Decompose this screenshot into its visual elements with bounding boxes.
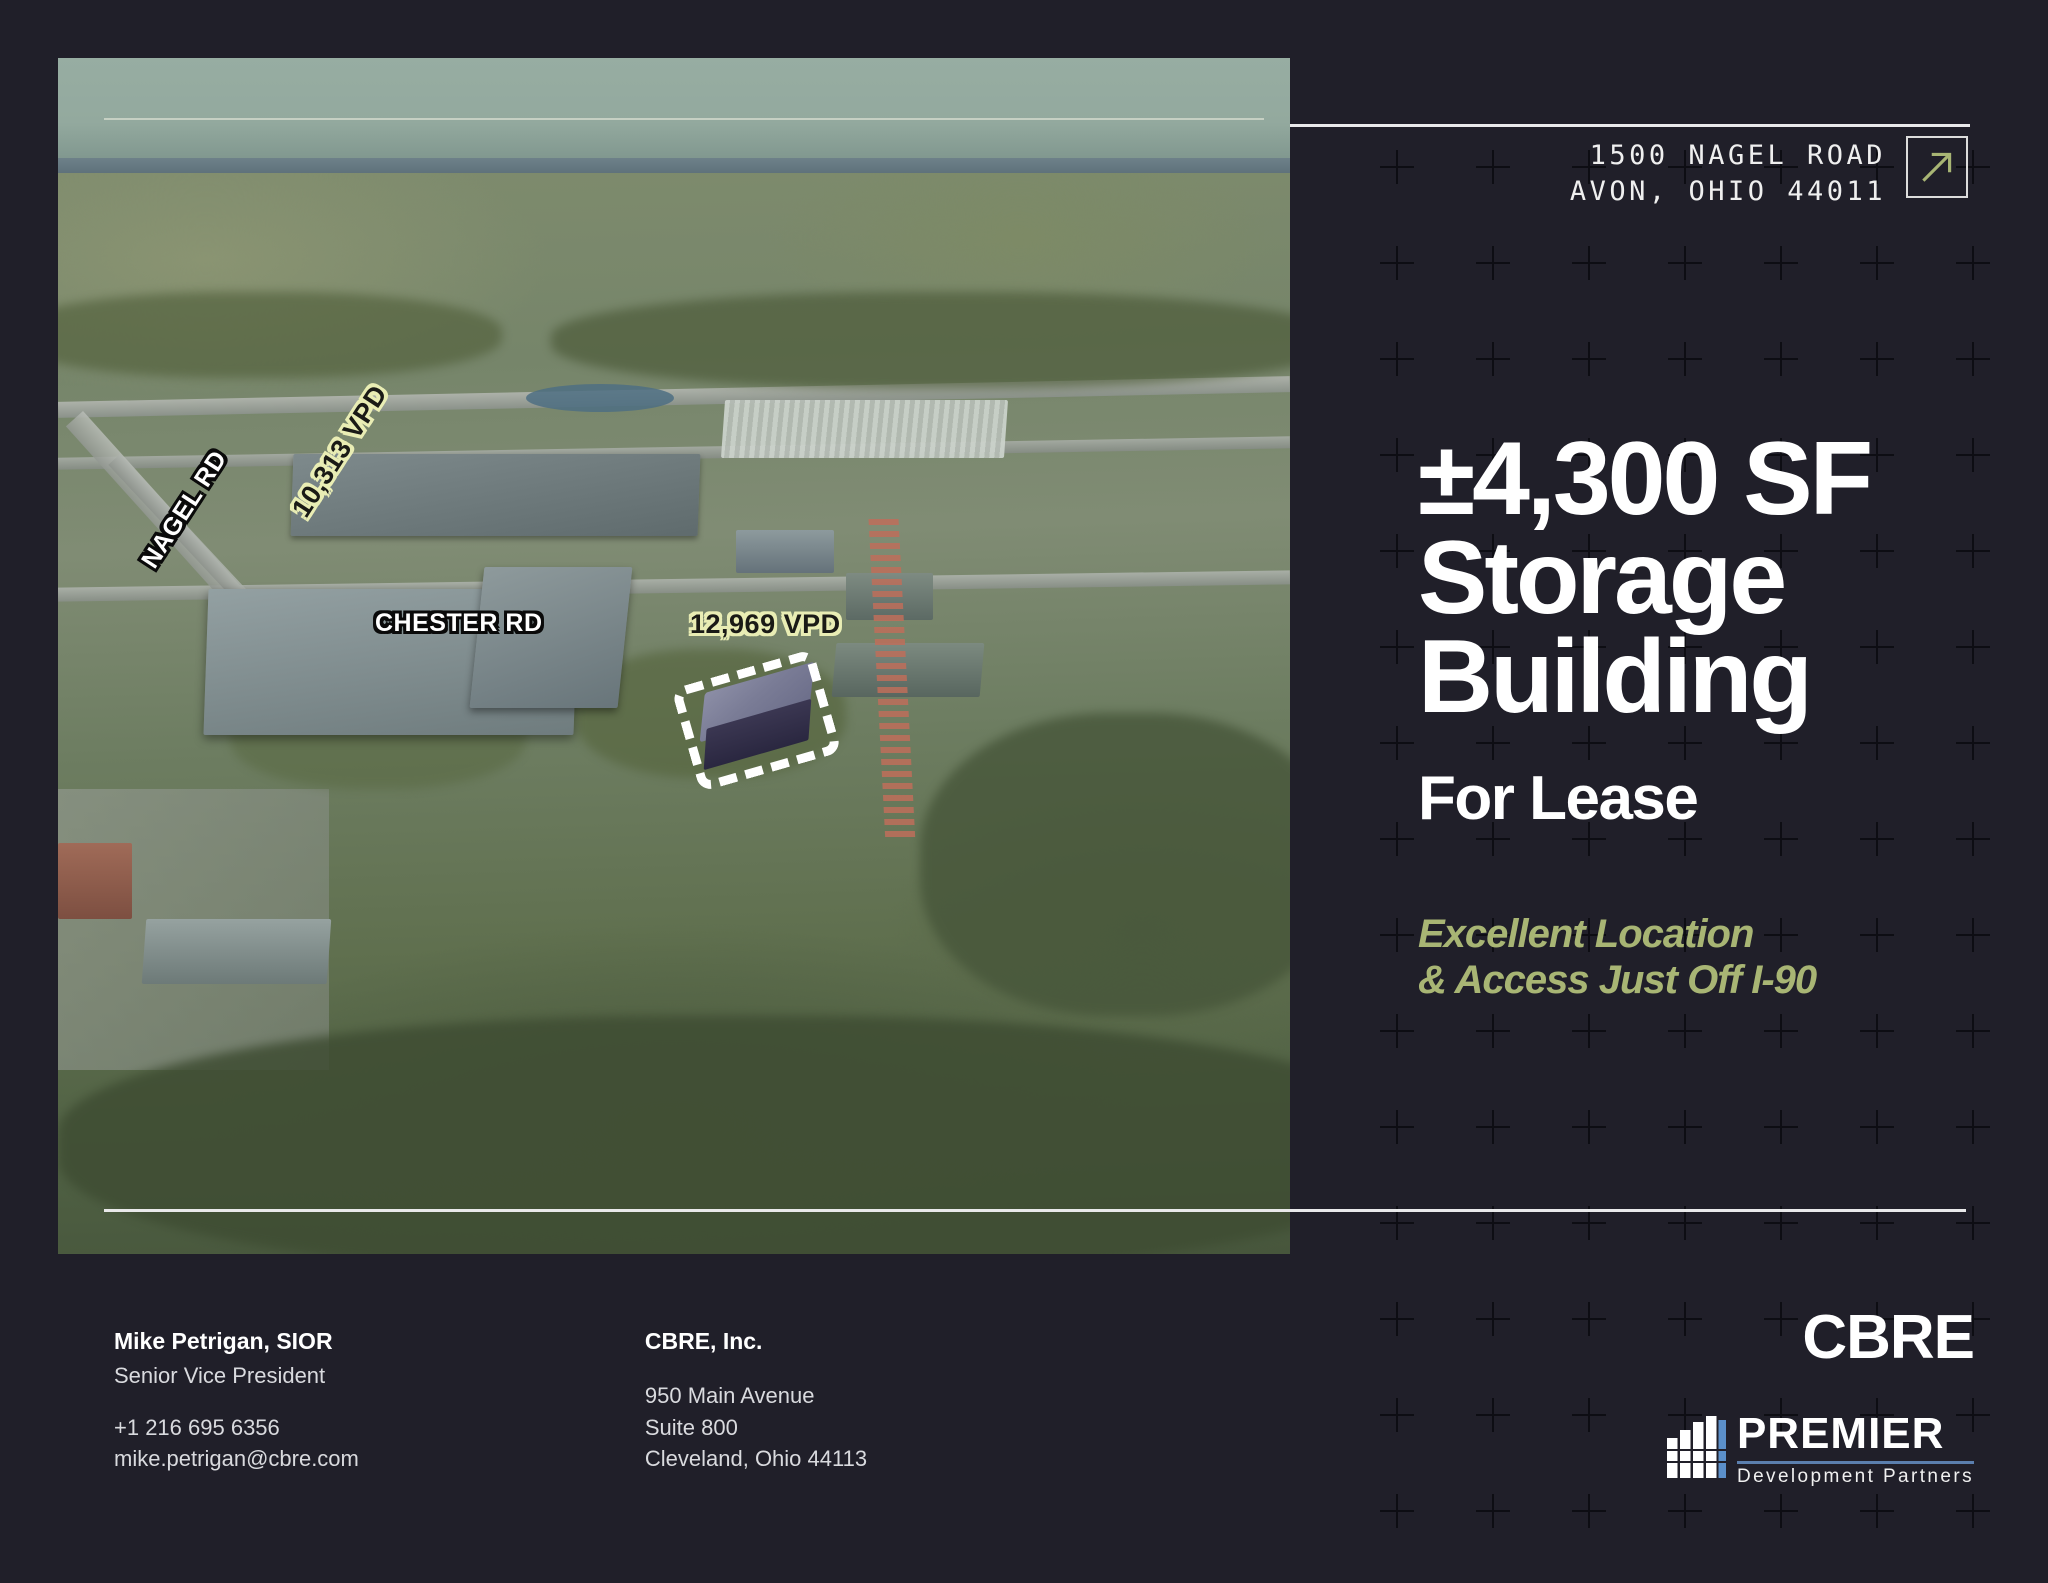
retention-pond [526,384,674,412]
plus-marker [1476,1398,1510,1432]
plus-marker [1668,246,1702,280]
tree-mass [58,1016,1290,1254]
sky-region [58,58,1290,166]
broker-title: Senior Vice President [114,1360,359,1392]
address-line-2: AVON, OHIO 44011 [1570,174,1886,210]
map-label-chester-rd: CHESTER RD [375,609,543,638]
building-east [832,643,985,697]
plus-marker [1764,342,1798,376]
plus-marker [1668,1014,1702,1048]
plus-marker [1476,1014,1510,1048]
plus-marker [1764,1014,1798,1048]
plus-marker [1380,438,1414,472]
plus-marker [1572,1302,1606,1336]
tree-mass [920,713,1290,1016]
plus-marker [1860,1110,1894,1144]
cbre-logo: CBRE [1802,1302,1974,1373]
building-west-red [58,843,132,919]
plus-marker [1572,1494,1606,1528]
company-contact-block: CBRE, Inc. 950 Main Avenue Suite 800 Cle… [645,1325,867,1475]
hero-copy-column: ±4,300 SF Storage Building For Lease Exc… [1418,430,2038,1004]
plus-marker [1380,1494,1414,1528]
headline-line-3: Building [1418,628,2038,727]
premier-development-partners-logo: PREMIER Development Partners [1665,1412,1974,1486]
broker-contact-block: Mike Petrigan, SIOR Senior Vice Presiden… [114,1325,359,1475]
plus-marker [1380,918,1414,952]
company-address-line-2: Suite 800 [645,1412,867,1444]
header-rule [1290,124,1970,127]
company-name: CBRE, Inc. [645,1325,867,1358]
plus-marker [1380,822,1414,856]
plus-marker [1668,1110,1702,1144]
tagline-line-2: & Access Just Off I-90 [1418,958,2038,1004]
plus-marker [1572,246,1606,280]
plus-marker [1764,1110,1798,1144]
lower-divider-rule [104,1209,1966,1212]
plus-marker [1380,1110,1414,1144]
photo-top-rule [104,118,1264,120]
plus-marker [1572,342,1606,376]
building-southwest [142,919,331,984]
plus-marker [1764,1302,1798,1336]
plus-marker [1572,1398,1606,1432]
aerial-property-photo: NAGEL RD 10,313 VPD CHESTER RD 12,969 VP… [58,58,1290,1254]
plus-marker [1956,1494,1990,1528]
plus-marker [1476,150,1510,184]
plus-marker [1860,246,1894,280]
plus-marker [1668,1302,1702,1336]
plus-marker [1476,342,1510,376]
plus-marker [1380,342,1414,376]
plus-marker [1956,1014,1990,1048]
plus-marker [1860,1494,1894,1528]
greenhouse-structure [721,400,1008,458]
premier-divider [1737,1461,1974,1464]
plus-marker [1956,246,1990,280]
headline-line-2: Storage [1418,529,2038,628]
storage-building-highlight [692,676,821,765]
listing-type-subhead: For Lease [1418,768,2038,830]
land-region [58,173,1290,1254]
plus-marker [1572,1110,1606,1144]
plus-marker [1476,246,1510,280]
address-lines: 1500 NAGEL ROAD AVON, OHIO 44011 [1570,136,1886,209]
plus-marker [1380,1398,1414,1432]
plus-marker [1764,1494,1798,1528]
plus-marker [1380,630,1414,664]
property-address-block: 1500 NAGEL ROAD AVON, OHIO 44011 [1570,136,1968,209]
footer-contact-area: Mike Petrigan, SIOR Senior Vice Presiden… [114,1325,867,1475]
tree-mass [551,292,1290,389]
feature-tagline: Excellent Location & Access Just Off I-9… [1418,912,2038,1003]
arrow-up-right-icon[interactable] [1906,136,1968,198]
plus-marker [1476,1494,1510,1528]
plus-marker [1668,1494,1702,1528]
premier-building-icon [1665,1412,1729,1486]
tagline-line-1: Excellent Location [1418,912,2038,958]
plus-marker [1380,1014,1414,1048]
plus-marker [1668,342,1702,376]
address-line-1: 1500 NAGEL ROAD [1570,138,1886,174]
spacer [645,1360,867,1380]
plus-marker [1860,342,1894,376]
plus-marker [1380,1302,1414,1336]
tree-mass [58,292,502,378]
plus-marker [1380,726,1414,760]
page-title: ±4,300 SF Storage Building [1418,430,2038,726]
broker-email[interactable]: mike.petrigan@cbre.com [114,1443,359,1475]
plus-marker [1476,1110,1510,1144]
map-label-vpd-chester: 12,969 VPD [690,609,841,640]
broker-name: Mike Petrigan, SIOR [114,1325,359,1358]
warehouse-north [291,454,700,536]
plus-marker [1476,1302,1510,1336]
building-small [736,530,835,573]
plus-marker [1860,1014,1894,1048]
plus-marker [1764,246,1798,280]
headline-line-1: ±4,300 SF [1418,430,2038,529]
plus-marker [1380,534,1414,568]
spacer [114,1392,359,1412]
broker-phone[interactable]: +1 216 695 6356 [114,1412,359,1444]
premier-subtitle: Development Partners [1737,1467,1974,1486]
plus-marker [1380,246,1414,280]
premier-wordmark: PREMIER Development Partners [1737,1412,1974,1486]
company-address-line-3: Cleveland, Ohio 44113 [645,1443,867,1475]
company-address-line-1: 950 Main Avenue [645,1380,867,1412]
plus-marker [1572,1014,1606,1048]
plus-marker [1380,150,1414,184]
plus-marker [1956,342,1990,376]
premier-word: PREMIER [1737,1412,1974,1459]
plus-marker [1956,1110,1990,1144]
